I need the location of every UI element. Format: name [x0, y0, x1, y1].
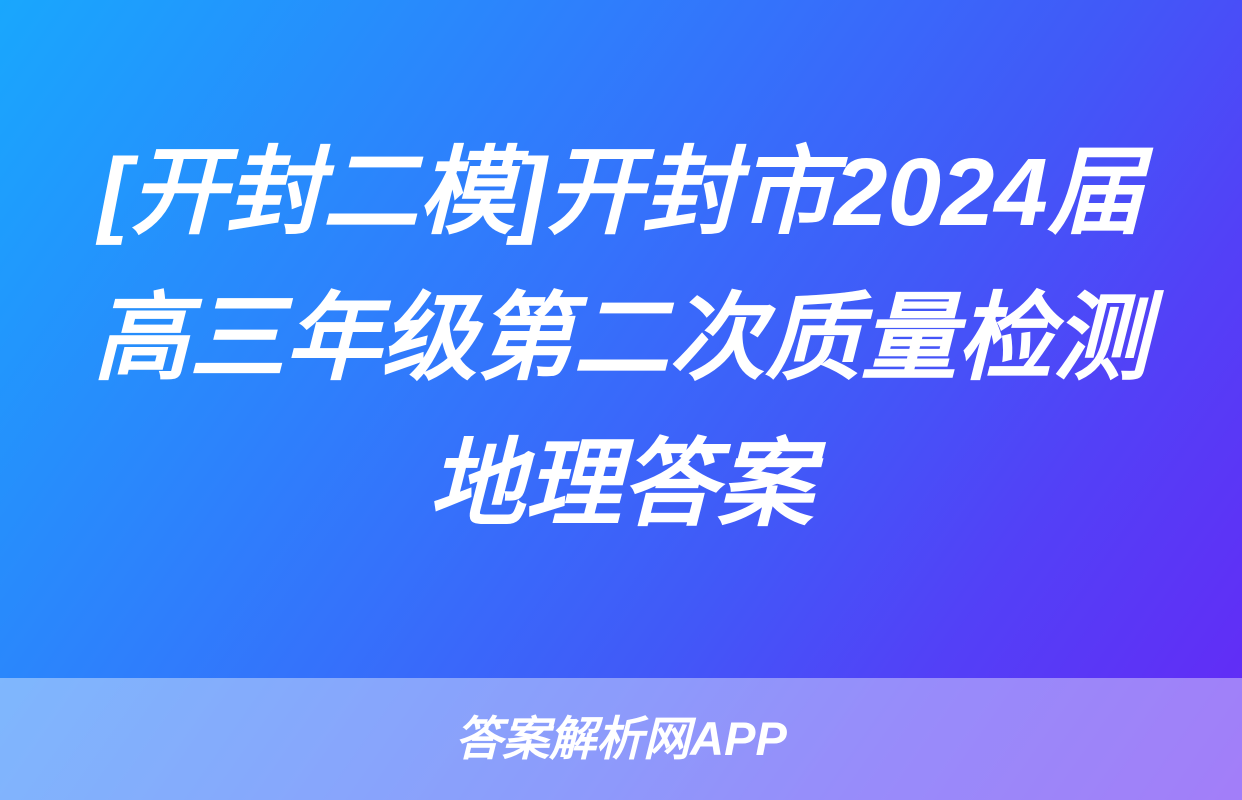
headline-area: [开封二模]开封市2024届高三年级第二次质量检测地理答案: [0, 0, 1242, 678]
page-title: [开封二模]开封市2024届高三年级第二次质量检测地理答案: [52, 120, 1190, 558]
app-watermark-label: 答案解析网APP: [455, 713, 787, 765]
answer-poster-card: [开封二模]开封市2024届高三年级第二次质量检测地理答案 答案解析网APP: [0, 0, 1242, 800]
watermark-band: 答案解析网APP: [0, 678, 1242, 800]
